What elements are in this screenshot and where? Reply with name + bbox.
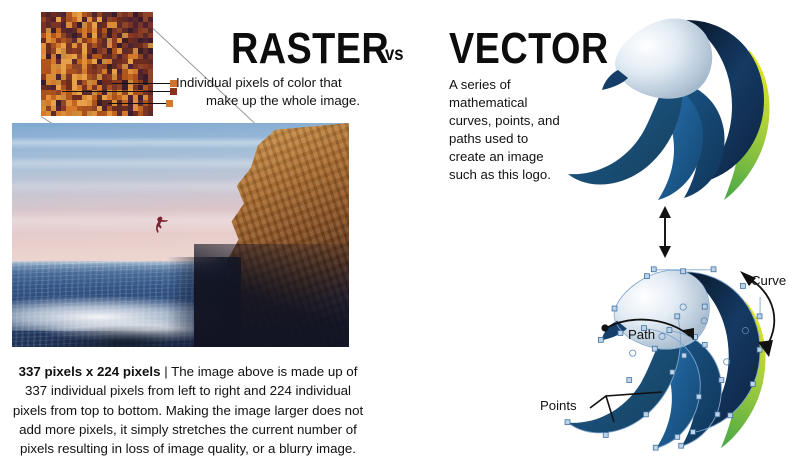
raster-caption: 337 pixels x 224 pixels | The image abov… — [12, 362, 364, 458]
raster-callout-line-1: Individual pixels of color that — [176, 74, 366, 92]
leader-line-3 — [108, 103, 168, 104]
raster-callout-line-2: make up the whole image. — [176, 92, 366, 110]
label-points: Points — [540, 398, 577, 413]
pixel-swatch-3 — [166, 100, 173, 107]
label-curve: Curve — [751, 273, 786, 288]
raster-photo — [12, 123, 349, 347]
leader-line-2 — [62, 91, 172, 92]
mosaic-pixel — [148, 111, 153, 116]
caption-separator: | — [161, 364, 172, 379]
page-title-raster: RASTER — [231, 27, 389, 71]
photo-cliff-dark-base — [194, 244, 349, 347]
label-path: Path — [628, 327, 655, 342]
photo-jumper-figure — [155, 216, 168, 235]
logo-sphere-highlight — [615, 19, 712, 99]
vector-description-text: A series of mathematical curves, points,… — [449, 76, 561, 184]
transform-double-arrow-icon — [645, 206, 685, 258]
pixel-mosaic-zoom — [41, 12, 153, 116]
leader-line-1 — [112, 83, 172, 84]
vs-separator-label: vs — [385, 44, 404, 66]
caption-dimensions: 337 pixels x 224 pixels — [19, 364, 161, 379]
raster-callout-text: Individual pixels of color that make up … — [176, 74, 366, 109]
vector-logo-clean — [568, 8, 800, 208]
